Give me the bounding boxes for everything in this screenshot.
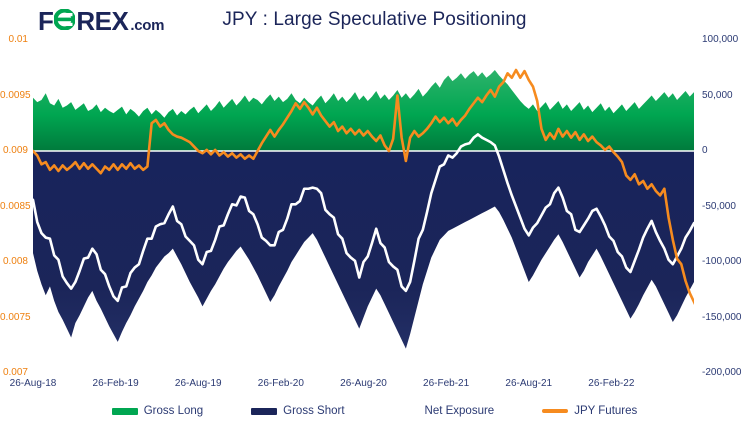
right-axis-tick: -150,000 xyxy=(702,313,741,323)
right-axis-tick: -50,000 xyxy=(702,202,736,212)
x-axis-tick: 26-Aug-21 xyxy=(499,379,559,389)
legend-item[interactable]: Gross Short xyxy=(251,405,344,417)
right-axis-tick: 0 xyxy=(702,146,708,156)
left-axis-tick: 0.0085 xyxy=(0,202,28,212)
left-axis-tick: 0.008 xyxy=(0,257,28,267)
right-axis-tick: -200,000 xyxy=(702,368,741,378)
left-axis-tick: 0.01 xyxy=(0,35,28,45)
forex-chart-card: F REX .com JPY : Large Speculative Posit… xyxy=(0,0,749,424)
left-axis-tick: 0.0075 xyxy=(0,313,28,323)
left-axis-tick: 0.007 xyxy=(0,368,28,378)
x-axis-tick: 26-Feb-21 xyxy=(416,379,476,389)
legend-label: Gross Long xyxy=(144,405,203,417)
legend-label: Net Exposure xyxy=(425,405,495,417)
x-axis-tick: 26-Aug-20 xyxy=(334,379,394,389)
legend-item[interactable]: Net Exposure xyxy=(393,405,495,417)
left-axis-tick: 0.0095 xyxy=(0,91,28,101)
x-axis-tick: 26-Feb-22 xyxy=(581,379,641,389)
legend-swatch-swatch xyxy=(393,408,419,415)
right-axis-tick: 100,000 xyxy=(702,35,738,45)
legend-swatch-swatch xyxy=(112,408,138,415)
legend-label: JPY Futures xyxy=(574,405,637,417)
x-axis-tick: 26-Feb-20 xyxy=(251,379,311,389)
legend-item[interactable]: JPY Futures xyxy=(542,405,637,417)
right-axis-tick: 50,000 xyxy=(702,91,733,101)
legend-swatch-swatch xyxy=(251,408,277,415)
legend-label: Gross Short xyxy=(283,405,344,417)
right-axis-tick: -100,000 xyxy=(702,257,741,267)
left-axis-tick: 0.009 xyxy=(0,146,28,156)
series-gross-short-area xyxy=(33,151,694,349)
chart-plot-area xyxy=(0,0,749,424)
chart-legend: Gross LongGross ShortNet ExposureJPY Fut… xyxy=(0,398,749,424)
x-axis-tick: 26-Feb-19 xyxy=(86,379,146,389)
legend-item[interactable]: Gross Long xyxy=(112,405,203,417)
legend-swatch-line xyxy=(542,409,568,413)
x-axis-tick: 26-Aug-19 xyxy=(168,379,228,389)
x-axis-tick: 26-Aug-18 xyxy=(3,379,63,389)
